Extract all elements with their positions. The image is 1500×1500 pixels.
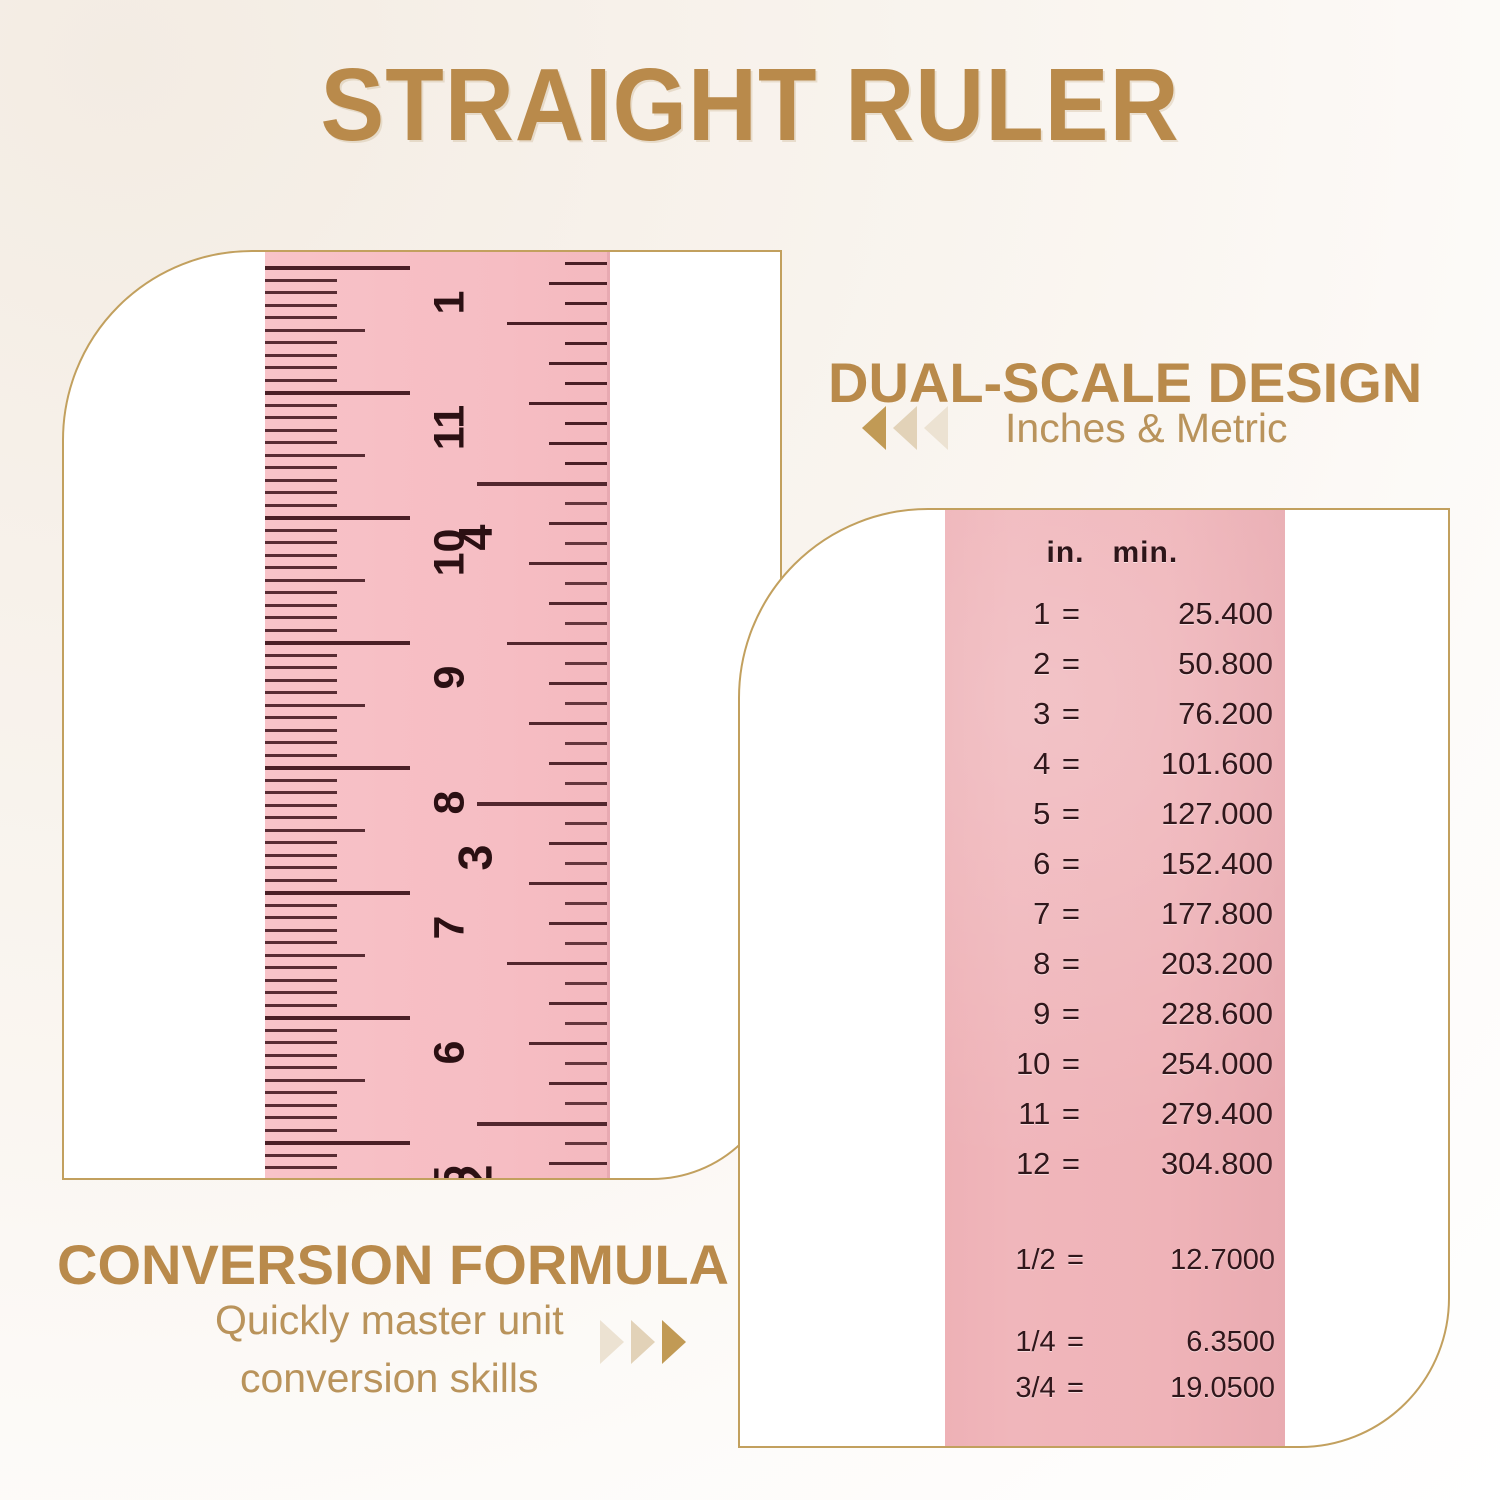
product-infographic: STRAIGHT RULER 1111098765432 in. min. 1=… <box>0 0 1500 1500</box>
ruler-card-border <box>62 250 782 1180</box>
conversion-formula-subtitle-line1: Quickly master unit <box>215 1297 564 1344</box>
chevron-right-icon <box>631 1320 655 1364</box>
chevrons-right-icon <box>600 1320 693 1364</box>
chevron-left-icon <box>893 406 917 450</box>
chevrons-left-icon <box>862 406 955 450</box>
conversion-formula-heading: CONVERSION FORMULA <box>57 1232 729 1297</box>
chevron-right-icon <box>662 1320 686 1364</box>
chevron-right-icon <box>600 1320 624 1364</box>
dual-scale-subtitle: Inches & Metric <box>1005 405 1288 452</box>
conversion-formula-subtitle-line2: conversion skills <box>240 1355 539 1402</box>
chevron-left-icon <box>862 406 886 450</box>
conversion-card-border <box>738 508 1450 1448</box>
page-title: STRAIGHT RULER <box>53 52 1448 157</box>
chevron-left-icon <box>924 406 948 450</box>
